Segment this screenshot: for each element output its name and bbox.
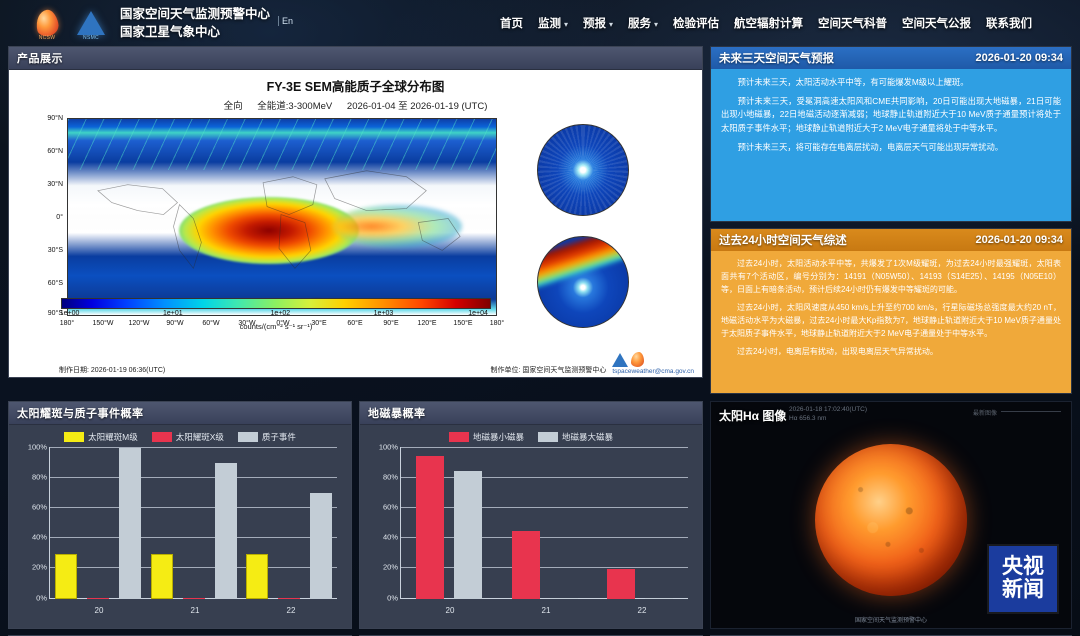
product-chart-title: FY-3E SEM高能质子全球分布图 — [15, 76, 696, 95]
subtitle-direction: 全向 — [224, 101, 243, 112]
summary-paragraph-2: 过去24小时，太阳风速度从450 km/s上升至约700 km/s，行星际磁场总… — [721, 302, 1061, 341]
product-panel-title: 产品展示 — [9, 47, 702, 70]
nav-label-3: 服务 — [628, 18, 651, 30]
three-day-forecast-box: 未来三天空间天气预报 2026-01-20 09:34 预计未来三天，太阳活动水… — [710, 46, 1072, 222]
forecast-paragraph-3: 预计未来三天，将可能存在电离层扰动，电离层天气可能出现异常扰动。 — [721, 141, 1061, 155]
subtitle-channel: 全能道:3-300MeV — [257, 101, 332, 112]
chevron-down-icon: ▾ — [609, 20, 613, 29]
cctv-news-watermark: 央视 新闻 — [989, 546, 1057, 612]
bar-flare-x-21[interactable] — [183, 598, 205, 599]
footer-right: 制作单位: 国家空间天气监测预警中心 tspaceweather@cma.gov… — [490, 352, 694, 375]
legend-item-proton[interactable]: 质子事件 — [238, 431, 296, 443]
colorbar-unit-label: counts/(cm⁻² s⁻¹ sr⁻¹) — [61, 322, 491, 331]
legend-label-major-storm: 地磁暴大磁暴 — [562, 431, 613, 443]
ytick-80: 80% — [370, 473, 398, 482]
past-24h-summary-body: 过去24小时，太阳活动水平中等，共爆发了1次M级耀斑，为过去24小时最强耀斑，太… — [711, 251, 1071, 393]
summary-paragraph-1: 过去24小时，太阳活动水平中等，共爆发了1次M级耀斑，为过去24小时最强耀斑，太… — [721, 258, 1061, 297]
three-day-forecast-header: 未来三天空间天气预报 2026-01-20 09:34 — [711, 47, 1071, 69]
organization-title: 国家空间天气监测预警中心 国家卫星气象中心 — [120, 5, 270, 41]
footer-date-value: 2026-01-19 06:36(UTC) — [91, 367, 165, 374]
xtick-day-20: 20 — [95, 606, 104, 615]
past-24h-summary-date: 2026-01-20 09:34 — [976, 234, 1063, 246]
legend-label-proton: 质子事件 — [262, 431, 296, 443]
bar-minor-storm-22[interactable] — [607, 569, 635, 599]
north-polar-plot[interactable] — [537, 124, 629, 216]
nav-label-4: 检验评估 — [673, 18, 719, 30]
three-day-forecast-date: 2026-01-20 09:34 — [976, 52, 1063, 64]
bar-group-21 — [146, 447, 242, 599]
language-toggle[interactable]: En — [278, 16, 293, 26]
product-display-panel: 产品展示 FY-3E SEM高能质子全球分布图 全向 全能道:3-300MeV … — [8, 46, 703, 378]
xtick-day-22: 22 — [287, 606, 296, 615]
ytick-30n: 30°N — [31, 181, 63, 188]
legend-label-flare-x: 太阳耀斑X级 — [176, 431, 224, 443]
bar-major-storm-21[interactable] — [550, 598, 578, 599]
flare-proton-plot: 100% 80% 60% 40% 20% 0% — [19, 447, 341, 615]
org-line-2: 国家卫星气象中心 — [120, 23, 270, 41]
bar-minor-storm-20[interactable] — [416, 456, 444, 599]
bar-group-20 — [401, 447, 497, 599]
nav-item-aviation-radiation[interactable]: 航空辐射计算 — [734, 15, 803, 31]
ncsw-mini-logo-icon — [631, 352, 644, 367]
nsmc-mini-logo-icon — [612, 353, 628, 367]
bar-flare-x-22[interactable] — [278, 598, 300, 599]
colorbar-gradient — [61, 298, 491, 309]
solar-footer-credit: 国家空间天气监测预警中心 — [711, 615, 1071, 624]
ytick-100: 100% — [19, 443, 47, 452]
ytick-60n: 60°N — [31, 148, 63, 155]
xtick-day-22: 22 — [638, 606, 647, 615]
nav-label-6: 空间天气科普 — [818, 18, 887, 30]
bar-group-20 — [50, 447, 146, 599]
three-day-forecast-body: 预计未来三天，太阳活动水平中等，有可能爆发M级以上耀斑。 预计未来三天，受冕洞高… — [711, 69, 1071, 221]
footer-email: tspaceweather@cma.gov.cn — [612, 368, 694, 375]
legend-item-minor-storm[interactable]: 地磁暴小磁暴 — [449, 431, 524, 443]
solar-halpha-title: 太阳Hα 图像 — [719, 407, 786, 424]
ncsw-logo-icon: NCSW — [30, 6, 64, 40]
ytick-20: 20% — [19, 563, 47, 572]
page-root: NCSW NSMC 国家空间天气监测预警中心 国家卫星气象中心 En 首页 监测… — [0, 0, 1080, 636]
legend-swatch-flare-x — [152, 432, 172, 442]
ytick-60s: 60°S — [31, 280, 63, 287]
nav-label-1: 监测 — [538, 18, 561, 30]
ytick-40: 40% — [19, 533, 47, 542]
nav-item-science-popularization[interactable]: 空间天气科普 — [818, 15, 887, 31]
main-navigation: 首页 监测▾ 预报▾ 服务▾ 检验评估 航空辐射计算 空间天气科普 空间天气公报… — [500, 15, 1068, 31]
ytick-60: 60% — [370, 503, 398, 512]
footer-org-value: 国家空间天气监测预警中心 — [522, 367, 606, 374]
geomagnetic-panel-title: 地磁暴概率 — [360, 402, 702, 425]
nsmc-logo-icon: NSMC — [74, 6, 108, 40]
flare-proton-chart[interactable]: 太阳耀斑M级 太阳耀斑X级 质子事件 — [9, 425, 351, 628]
org-line-1: 国家空间天气监测预警中心 — [120, 5, 270, 23]
world-proton-heatmap[interactable] — [67, 118, 497, 316]
footer-date-label: 制作日期: — [59, 367, 89, 374]
legend-item-flare-m[interactable]: 太阳耀斑M级 — [64, 431, 138, 443]
legend-swatch-proton — [238, 432, 258, 442]
top-row: 产品展示 FY-3E SEM高能质子全球分布图 全向 全能道:3-300MeV … — [8, 46, 1072, 394]
nav-label-2: 预报 — [583, 18, 606, 30]
geomagnetic-chart[interactable]: 地磁暴小磁暴 地磁暴大磁暴 100% — [360, 425, 702, 628]
triangle-shape — [77, 11, 105, 35]
bar-groups — [50, 447, 337, 599]
bar-major-storm-22[interactable] — [645, 598, 673, 599]
south-atlantic-anomaly-band — [537, 236, 629, 291]
ytick-100: 100% — [370, 443, 398, 452]
bar-group-22 — [592, 447, 688, 599]
footer-logos — [612, 352, 694, 367]
watermark-line-1: 央视 — [1002, 556, 1044, 579]
nsmc-logo-label: NSMC — [74, 35, 108, 41]
cbar-tick-2: 1e+02 — [270, 310, 290, 317]
cbar-tick-0: 1e+00 — [60, 310, 80, 317]
page-body: 产品展示 FY-3E SEM高能质子全球分布图 全向 全能道:3-300MeV … — [0, 46, 1080, 636]
ytick-20: 20% — [370, 563, 398, 572]
nav-item-services[interactable]: 服务▾ — [628, 15, 658, 31]
nav-item-monitoring[interactable]: 监测▾ — [538, 15, 568, 31]
ytick-60: 60% — [19, 503, 47, 512]
bar-flare-m-22[interactable] — [246, 554, 268, 599]
xtick-day-20: 20 — [446, 606, 455, 615]
footer-org-label: 制作单位: — [490, 367, 520, 374]
nav-label-7: 空间天气公报 — [902, 18, 971, 30]
past-24h-summary-box: 过去24小时空间天气综述 2026-01-20 09:34 过去24小时，太阳活… — [710, 228, 1072, 394]
cbar-tick-4: 1e+04 — [468, 310, 488, 317]
bar-flare-m-21[interactable] — [151, 554, 173, 599]
cbar-tick-3: 1e+03 — [374, 310, 394, 317]
ytick-90n: 90°N — [31, 115, 63, 122]
bar-group-21 — [497, 447, 593, 599]
product-chart-subtitle: 全向 全能道:3-300MeV 2026-01-04 至 2026-01-19 … — [15, 98, 696, 112]
site-header: NCSW NSMC 国家空间天气监测预警中心 国家卫星气象中心 En 首页 监测… — [0, 0, 1080, 46]
nav-label-5: 航空辐射计算 — [734, 18, 803, 30]
legend-item-flare-x[interactable]: 太阳耀斑X级 — [152, 431, 224, 443]
product-footer: 制作日期: 2026-01-19 06:36(UTC) 制作单位: 国家空间天气… — [9, 352, 702, 375]
solar-timestamp-line-2: Hα 656.3 nm — [789, 414, 867, 423]
nav-item-forecast[interactable]: 预报▾ — [583, 15, 613, 31]
coastlines-overlay — [68, 119, 496, 316]
solar-corner-note: 最新图像 — [973, 408, 997, 417]
ncsw-logo-label: NCSW — [30, 35, 64, 41]
flare-proton-panel-title: 太阳耀斑与质子事件概率 — [9, 402, 351, 425]
bottom-row: 太阳耀斑与质子事件概率 太阳耀斑M级 太阳耀斑X级 质子 — [8, 401, 1072, 629]
nav-label-0: 首页 — [500, 18, 523, 30]
legend-swatch-minor-storm — [449, 432, 469, 442]
past-24h-summary-title: 过去24小时空间天气综述 — [719, 232, 847, 248]
cbar-tick-1: 1e+01 — [163, 310, 183, 317]
bar-groups — [401, 447, 688, 599]
solar-divider — [1001, 411, 1061, 412]
forecast-paragraph-1: 预计未来三天，太阳活动水平中等，有可能爆发M级以上耀斑。 — [721, 76, 1061, 90]
ytick-40: 40% — [370, 533, 398, 542]
bar-proton-22[interactable] — [310, 493, 332, 599]
geomagnetic-storm-probability-panel: 地磁暴概率 地磁暴小磁暴 地磁暴大磁暴 — [359, 401, 703, 629]
ytick-80: 80% — [19, 473, 47, 482]
forecast-paragraph-2: 预计未来三天，受冕洞高速太阳风和CME共同影响，20日可能出现大地磁暴，21日可… — [721, 95, 1061, 136]
nav-item-verification[interactable]: 检验评估 — [673, 15, 719, 31]
sun-disk-image — [815, 444, 967, 596]
bar-proton-20[interactable] — [119, 448, 141, 599]
flare-proton-legend: 太阳耀斑M级 太阳耀斑X级 质子事件 — [13, 427, 347, 445]
ytick-0: 0% — [370, 594, 398, 603]
footer-logo-group: tspaceweather@cma.gov.cn — [612, 352, 694, 375]
colorbar-ticks: 1e+00 1e+01 1e+02 1e+03 1e+04 — [61, 309, 491, 321]
legend-swatch-flare-m — [64, 432, 84, 442]
three-day-forecast-title: 未来三天空间天气预报 — [719, 50, 834, 66]
colorbar-group: 1e+00 1e+01 1e+02 1e+03 1e+04 counts/(cm… — [61, 298, 491, 331]
geomagnetic-plot: 100% 80% 60% 40% 20% 0% — [370, 447, 692, 615]
solar-halpha-panel[interactable]: 太阳Hα 图像 2026-01-18 17:02:40(UTC) Hα 656.… — [710, 401, 1072, 629]
geomagnetic-legend: 地磁暴小磁暴 地磁暴大磁暴 — [364, 427, 698, 445]
flame-shape — [34, 8, 61, 38]
nav-item-home[interactable]: 首页 — [500, 15, 523, 31]
xtick-day-21: 21 — [542, 606, 551, 615]
legend-swatch-major-storm — [538, 432, 558, 442]
bar-minor-storm-21[interactable] — [512, 531, 540, 599]
xtick-day-21: 21 — [191, 606, 200, 615]
subtitle-daterange: 2026-01-04 至 2026-01-19 (UTC) — [347, 101, 487, 112]
flare-proton-probability-panel: 太阳耀斑与质子事件概率 太阳耀斑M级 太阳耀斑X级 质子 — [8, 401, 352, 629]
ytick-0: 0° — [31, 214, 63, 221]
logo-group: NCSW NSMC — [30, 6, 108, 40]
bar-major-storm-20[interactable] — [454, 471, 482, 599]
solar-timestamp-line-1: 2026-01-18 17:02:40(UTC) — [789, 405, 867, 414]
legend-item-major-storm[interactable]: 地磁暴大磁暴 — [538, 431, 613, 443]
nav-item-bulletin[interactable]: 空间天气公报 — [902, 15, 971, 31]
bar-flare-x-20[interactable] — [87, 598, 109, 599]
legend-label-minor-storm: 地磁暴小磁暴 — [473, 431, 524, 443]
chevron-down-icon: ▾ — [564, 20, 568, 29]
footer-org: 制作单位: 国家空间天气监测预警中心 — [490, 365, 606, 375]
watermark-line-2: 新闻 — [1002, 579, 1044, 602]
solar-image-timestamp: 2026-01-18 17:02:40(UTC) Hα 656.3 nm — [789, 405, 867, 423]
ytick-90s: 90°S — [31, 310, 63, 317]
south-polar-plot[interactable] — [537, 236, 629, 328]
bar-group-22 — [241, 447, 337, 599]
footer-production-date: 制作日期: 2026-01-19 06:36(UTC) — [59, 365, 165, 375]
legend-label-flare-m: 太阳耀斑M级 — [88, 431, 138, 443]
product-chart[interactable]: FY-3E SEM高能质子全球分布图 全向 全能道:3-300MeV 2026-… — [9, 70, 702, 377]
bar-proton-21[interactable] — [215, 463, 237, 599]
summary-paragraph-3: 过去24小时，电离层有扰动，出现电离层天气异常扰动。 — [721, 346, 1061, 359]
bar-flare-m-20[interactable] — [55, 554, 77, 599]
ytick-0: 0% — [19, 594, 47, 603]
nav-label-8: 联系我们 — [986, 18, 1032, 30]
ytick-30s: 30°S — [31, 247, 63, 254]
forecast-column: 未来三天空间天气预报 2026-01-20 09:34 预计未来三天，太阳活动水… — [710, 46, 1072, 394]
chevron-down-icon: ▾ — [654, 20, 658, 29]
nav-item-contact[interactable]: 联系我们 — [986, 15, 1032, 31]
past-24h-summary-header: 过去24小时空间天气综述 2026-01-20 09:34 — [711, 229, 1071, 251]
